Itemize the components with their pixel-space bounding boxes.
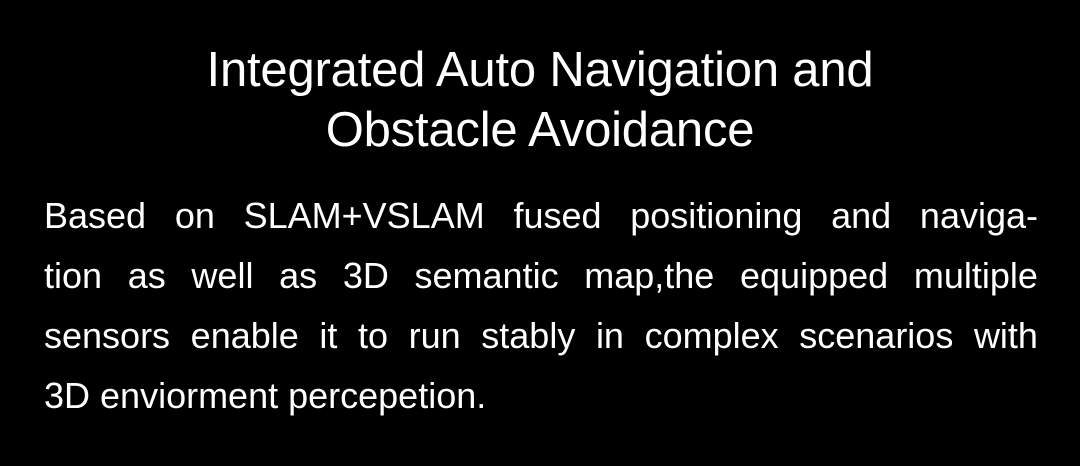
slide-body-paragraph: BasedonSLAM+VSLAMfusedpositioningandnavi…	[44, 186, 1038, 426]
body-word: 3D	[343, 246, 389, 306]
body-word: with	[974, 306, 1038, 366]
body-word: SLAM+VSLAM	[244, 186, 485, 246]
body-word: complex	[645, 306, 779, 366]
body-word: as	[279, 246, 317, 306]
body-word: positioning	[630, 186, 802, 246]
body-word: on	[175, 186, 215, 246]
body-word: run	[409, 306, 461, 366]
title-line-2: Obstacle Avoidance	[0, 100, 1080, 160]
body-word: naviga-	[920, 186, 1038, 246]
body-word: as	[128, 246, 166, 306]
title-line-1: Integrated Auto Navigation and	[0, 40, 1080, 100]
slide-title: Integrated Auto Navigation and Obstacle …	[0, 40, 1080, 160]
body-word: sensors	[44, 306, 170, 366]
body-word: to	[358, 306, 388, 366]
body-line-3: sensorsenableittorunstablyincomplexscena…	[44, 306, 1038, 366]
body-word: Based	[44, 186, 146, 246]
body-word: multiple	[914, 246, 1038, 306]
body-word: stably	[481, 306, 575, 366]
body-word: scenarios	[799, 306, 953, 366]
body-word: well	[191, 246, 253, 306]
body-word: in	[596, 306, 624, 366]
body-line-1: BasedonSLAM+VSLAMfusedpositioningandnavi…	[44, 186, 1038, 246]
body-line-4: 3D enviorment percepetion.	[44, 366, 1038, 426]
body-word: semantic	[415, 246, 559, 306]
body-word: it	[319, 306, 337, 366]
slide-canvas: Integrated Auto Navigation and Obstacle …	[0, 0, 1080, 466]
body-word: and	[831, 186, 891, 246]
body-word: equipped	[740, 246, 888, 306]
body-word: enable	[191, 306, 299, 366]
body-word: fused	[513, 186, 601, 246]
body-word: tion	[44, 246, 102, 306]
body-line-2: tionaswellas3Dsemanticmap,theequippedmul…	[44, 246, 1038, 306]
body-word: map,the	[584, 246, 714, 306]
